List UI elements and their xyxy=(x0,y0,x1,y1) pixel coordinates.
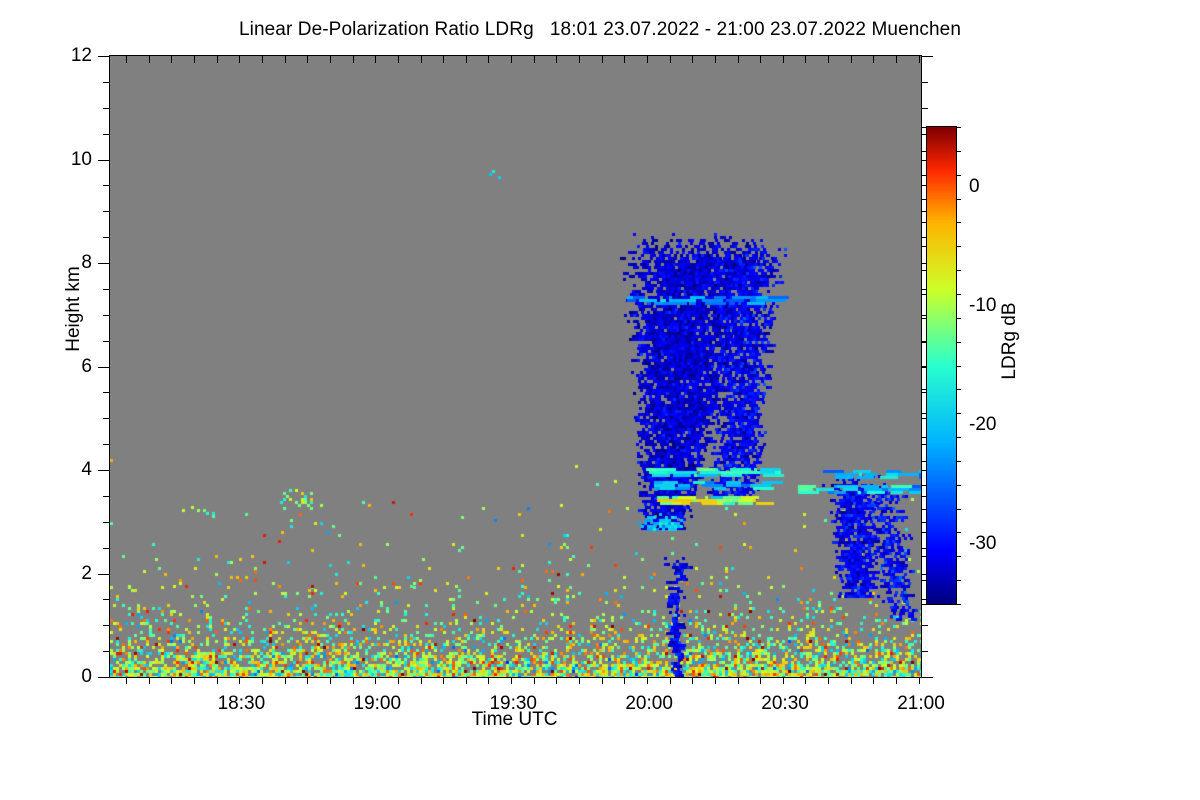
tick-mark xyxy=(262,677,263,684)
tick-mark xyxy=(488,56,489,63)
tick-mark xyxy=(851,56,852,63)
tick-mark xyxy=(103,522,110,523)
tick-mark xyxy=(956,222,961,223)
tick-mark xyxy=(738,56,739,63)
tick-mark xyxy=(851,677,852,684)
tick-mark xyxy=(103,108,110,109)
tick-mark xyxy=(103,315,110,316)
tick-mark xyxy=(239,677,240,684)
tick-mark xyxy=(783,56,784,63)
tick-mark xyxy=(922,294,927,295)
tick-mark xyxy=(922,413,927,414)
tick-mark xyxy=(511,677,512,684)
tick-mark xyxy=(922,127,927,128)
colorbar-label: LDRg dB xyxy=(999,241,1021,441)
figure-root: Linear De-Polarization Ratio LDRg 18:01 … xyxy=(0,0,1200,800)
tick-mark xyxy=(760,56,761,63)
tick-mark xyxy=(217,56,218,63)
tick-mark xyxy=(922,509,927,510)
colorbar-tick-label: 0 xyxy=(969,176,980,198)
tick-mark xyxy=(956,580,961,581)
tick-mark xyxy=(375,56,376,63)
tick-mark xyxy=(922,246,927,247)
tick-mark xyxy=(149,677,150,684)
tick-mark xyxy=(783,677,784,684)
tick-mark xyxy=(103,82,110,83)
tick-mark xyxy=(103,211,110,212)
tick-mark xyxy=(760,677,761,684)
tick-mark xyxy=(579,56,580,63)
colorbar-tick-label: -20 xyxy=(969,414,996,436)
y-tick-label: 4 xyxy=(81,459,92,481)
tick-mark xyxy=(919,677,920,684)
tick-mark xyxy=(670,56,671,63)
tick-mark xyxy=(692,677,693,684)
tick-mark xyxy=(171,56,172,63)
tick-mark xyxy=(126,677,127,684)
tick-mark xyxy=(805,677,806,684)
tick-mark xyxy=(443,677,444,684)
tick-mark xyxy=(602,56,603,63)
tick-mark xyxy=(956,318,961,319)
tick-mark xyxy=(956,199,961,200)
tick-mark xyxy=(103,289,110,290)
tick-mark xyxy=(285,56,286,63)
tick-mark xyxy=(194,677,195,684)
tick-mark xyxy=(956,556,961,557)
tick-mark xyxy=(896,677,897,684)
tick-mark xyxy=(98,367,110,368)
tick-mark xyxy=(896,56,897,63)
colorbar-tick-label: -10 xyxy=(969,295,996,317)
tick-mark xyxy=(922,580,927,581)
tick-mark xyxy=(956,127,961,128)
tick-mark xyxy=(466,677,467,684)
tick-mark xyxy=(353,677,354,684)
y-tick-label: 10 xyxy=(71,149,92,171)
tick-mark xyxy=(98,470,110,471)
tick-mark xyxy=(103,599,110,600)
tick-mark xyxy=(488,677,489,684)
tick-mark xyxy=(919,56,920,63)
tick-mark xyxy=(307,677,308,684)
heatmap-plot-area xyxy=(109,55,922,678)
tick-mark xyxy=(466,56,467,63)
tick-mark xyxy=(921,625,928,626)
tick-mark xyxy=(126,56,127,63)
tick-mark xyxy=(956,485,961,486)
tick-mark xyxy=(922,437,927,438)
tick-mark xyxy=(921,677,933,678)
tick-mark xyxy=(534,56,535,63)
tick-mark xyxy=(828,677,829,684)
tick-mark xyxy=(511,56,512,63)
tick-mark xyxy=(98,574,110,575)
tick-mark xyxy=(171,677,172,684)
tick-mark xyxy=(262,56,263,63)
tick-mark xyxy=(602,677,603,684)
tick-mark xyxy=(103,496,110,497)
tick-mark xyxy=(375,677,376,684)
tick-mark xyxy=(647,56,648,63)
x-axis-label: Time UTC xyxy=(109,709,920,731)
tick-mark xyxy=(398,56,399,63)
tick-mark xyxy=(922,270,927,271)
tick-mark xyxy=(579,677,580,684)
tick-mark xyxy=(828,56,829,63)
tick-mark xyxy=(103,625,110,626)
tick-mark xyxy=(956,151,961,152)
tick-mark xyxy=(624,677,625,684)
tick-mark xyxy=(922,604,927,605)
tick-mark xyxy=(239,56,240,63)
tick-mark xyxy=(330,677,331,684)
tick-mark xyxy=(922,175,927,176)
y-tick-label: 0 xyxy=(81,666,92,688)
tick-mark xyxy=(98,677,110,678)
tick-mark xyxy=(103,185,110,186)
tick-mark xyxy=(556,56,557,63)
heatmap-canvas xyxy=(110,56,921,677)
tick-mark xyxy=(922,366,927,367)
tick-mark xyxy=(956,342,961,343)
tick-mark xyxy=(398,677,399,684)
tick-mark xyxy=(421,677,422,684)
tick-mark xyxy=(921,56,933,57)
colorbar-tick-label: -30 xyxy=(969,533,996,555)
tick-mark xyxy=(534,677,535,684)
tick-mark xyxy=(307,56,308,63)
tick-mark xyxy=(922,485,927,486)
colorbar-gradient xyxy=(927,127,956,604)
tick-mark xyxy=(103,237,110,238)
tick-mark xyxy=(956,437,961,438)
tick-mark xyxy=(922,342,927,343)
tick-mark xyxy=(103,444,110,445)
tick-mark xyxy=(715,56,716,63)
tick-mark xyxy=(805,56,806,63)
tick-mark xyxy=(98,56,110,57)
tick-mark xyxy=(103,418,110,419)
tick-mark xyxy=(285,677,286,684)
tick-mark xyxy=(715,677,716,684)
tick-mark xyxy=(217,677,218,684)
tick-mark xyxy=(194,56,195,63)
page-title: Linear De-Polarization Ratio LDRg 18:01 … xyxy=(0,19,1200,41)
tick-mark xyxy=(98,263,110,264)
tick-mark xyxy=(922,199,927,200)
tick-mark xyxy=(922,222,927,223)
tick-mark xyxy=(956,246,961,247)
tick-mark xyxy=(921,108,928,109)
colorbar xyxy=(926,126,957,605)
tick-mark xyxy=(922,532,927,533)
tick-mark xyxy=(956,294,961,295)
tick-mark xyxy=(956,413,961,414)
tick-mark xyxy=(956,532,961,533)
tick-mark xyxy=(556,677,557,684)
tick-mark xyxy=(921,82,928,83)
tick-mark xyxy=(738,677,739,684)
tick-mark xyxy=(443,56,444,63)
tick-mark xyxy=(103,651,110,652)
tick-mark xyxy=(956,604,961,605)
tick-mark xyxy=(421,56,422,63)
tick-mark xyxy=(922,151,927,152)
tick-mark xyxy=(353,56,354,63)
y-tick-label: 2 xyxy=(81,563,92,585)
tick-mark xyxy=(922,389,927,390)
tick-mark xyxy=(956,270,961,271)
tick-mark xyxy=(873,56,874,63)
tick-mark xyxy=(692,56,693,63)
tick-mark xyxy=(873,677,874,684)
tick-mark xyxy=(103,392,110,393)
tick-mark xyxy=(149,56,150,63)
tick-mark xyxy=(103,548,110,549)
tick-mark xyxy=(98,160,110,161)
tick-mark xyxy=(922,461,927,462)
y-tick-label: 12 xyxy=(71,45,92,67)
tick-mark xyxy=(956,175,961,176)
tick-mark xyxy=(922,318,927,319)
tick-mark xyxy=(624,56,625,63)
tick-mark xyxy=(103,341,110,342)
tick-mark xyxy=(647,677,648,684)
tick-mark xyxy=(921,651,928,652)
tick-mark xyxy=(956,509,961,510)
tick-mark xyxy=(330,56,331,63)
tick-mark xyxy=(103,134,110,135)
y-axis-label: Height km xyxy=(63,229,85,389)
tick-mark xyxy=(922,556,927,557)
tick-mark xyxy=(670,677,671,684)
tick-mark xyxy=(956,366,961,367)
tick-mark xyxy=(956,461,961,462)
tick-mark xyxy=(956,389,961,390)
